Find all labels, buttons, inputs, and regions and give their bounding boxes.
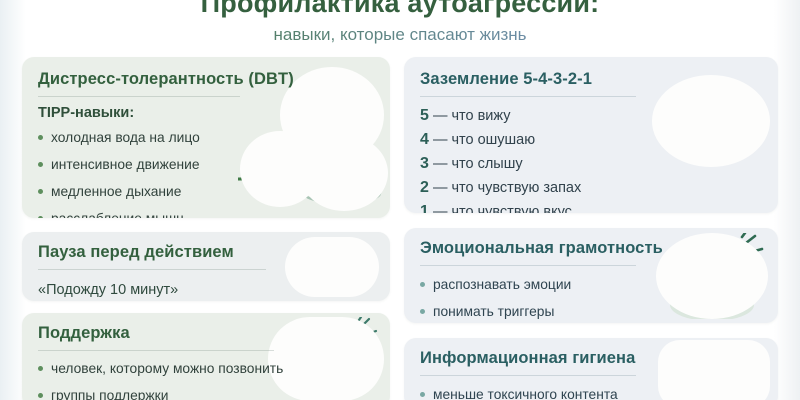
bullet-dot <box>38 393 43 398</box>
list-item: понимать триггеры <box>420 301 762 322</box>
hygiene-items-list: меньше токсичного контента больше <box>420 384 762 400</box>
list-item: расслабление мышц <box>38 208 374 218</box>
list-item: распознавать эмоции <box>420 274 762 295</box>
card-heading: Информационная гигиена <box>420 349 762 368</box>
card-pause-before-action[interactable]: Пауза перед действием «Подожду 10 минут» <box>22 232 390 301</box>
list-item: 1 — что чувствую вкус <box>420 200 762 213</box>
bullet-dot <box>38 162 43 167</box>
list-item: холодная вода на лицо <box>38 127 374 148</box>
list-item: 4 — что ошушаю <box>420 128 762 152</box>
list-item: медленное дыхание <box>38 181 374 202</box>
tipp-skills-label: TIPP-навыки: <box>38 105 374 121</box>
list-item: человек, которому можно позвонить <box>38 358 374 379</box>
bullet-dot <box>420 309 425 314</box>
card-heading: Поддержка <box>38 324 374 343</box>
list-item: 3 — что слышу <box>420 152 762 176</box>
card-heading: Дистресс-толерантность (DBT) <box>38 70 374 89</box>
heading-divider <box>420 265 636 266</box>
distress-items-list: холодная вода на лицо интенсивное движен… <box>38 127 374 218</box>
bullet-dot <box>38 216 43 218</box>
emotional-items-list: распознавать эмоции понимать триггеры ра… <box>420 274 762 323</box>
card-heading: Пауза перед действием <box>38 243 374 262</box>
cards-layout: Дистресс-толерантность (DBT) TIPP-навыки… <box>0 0 800 400</box>
bullet-dot <box>420 392 425 397</box>
heading-divider <box>38 96 240 97</box>
heading-divider <box>420 96 636 97</box>
list-item: группы подлержки <box>38 385 374 400</box>
card-support[interactable]: Поддержка человек, которому можно позвон… <box>22 313 390 400</box>
bullet-dot <box>38 189 43 194</box>
bullet-dot <box>38 135 43 140</box>
heading-divider <box>38 269 266 270</box>
card-information-hygiene[interactable]: Информационная гигиена меньше токсичного… <box>404 338 778 400</box>
card-heading: Эмоциональная грамотность <box>420 239 762 258</box>
list-item: 5 — что вижу <box>420 104 762 128</box>
heading-divider <box>420 375 636 376</box>
card-grounding[interactable]: Заземление 5-4-3-2-1 5 — что вижу 4 — чт… <box>404 57 778 213</box>
card-emotional-literacy[interactable]: Эмоциональная грамотность распознавать э… <box>404 228 778 323</box>
heading-divider <box>38 350 274 351</box>
list-item: 2 — что чувствую запах <box>420 176 762 200</box>
pause-quote: «Подожду 10 минут» <box>38 279 374 301</box>
list-item: меньше токсичного контента <box>420 384 762 400</box>
list-item: интенсивное движение <box>38 154 374 175</box>
support-items-list: человек, которому можно позвонить группы… <box>38 358 374 400</box>
bullet-dot <box>38 366 43 371</box>
card-heading: Заземление 5-4-3-2-1 <box>420 70 762 89</box>
bullet-dot <box>420 282 425 287</box>
card-distress-tolerance[interactable]: Дистресс-толерантность (DBT) TIPP-навыки… <box>22 57 390 218</box>
grounding-steps-list: 5 — что вижу 4 — что ошушаю 3 — что слыш… <box>420 104 762 213</box>
